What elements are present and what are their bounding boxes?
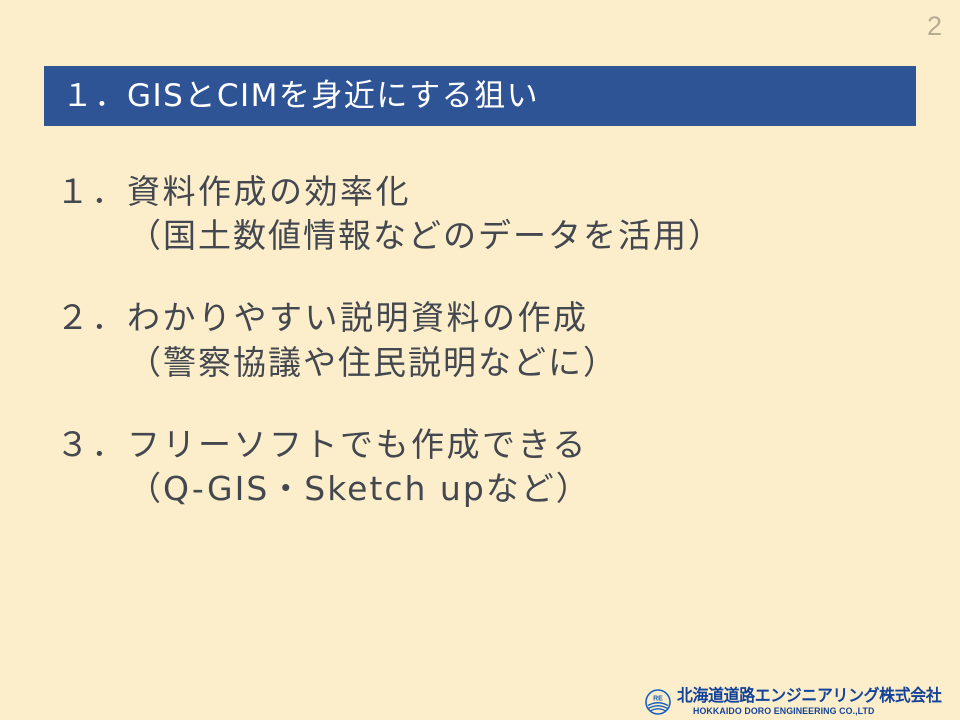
list-item-sub-text: （Q-GIS・Sketch upなど） — [56, 467, 936, 511]
company-name-en: HOKKAIDO DORO ENGINEERING CO.,LTD — [693, 707, 874, 716]
list-item-main-text: ３．フリーソフトでも作成できる — [56, 423, 936, 467]
list-item-sub-text: （警察協議や住民説明などに） — [56, 341, 936, 385]
logo-text-block: 北海道道路エンジニアリング株式会社 HOKKAIDO DORO ENGINEER… — [677, 688, 952, 717]
body-list: １．資料作成の効率化 （国土数値情報などのデータを活用） ２．わかりやすい説明資… — [56, 170, 936, 511]
page-number: 2 — [927, 13, 942, 40]
list-item-main-text: ２．わかりやすい説明資料の作成 — [56, 296, 936, 340]
footer-company-logo: RE 北海道道路エンジニアリング株式会社 HOKKAIDO DORO ENGIN… — [645, 688, 952, 717]
list-item-main-text: １．資料作成の効率化 — [56, 170, 936, 214]
svg-text:RE: RE — [653, 695, 663, 702]
list-item-sub-text: （国土数値情報などのデータを活用） — [56, 214, 936, 258]
slide-title: １．GISとCIMを身近にする狙い — [44, 81, 539, 112]
hde-circle-logo-icon: RE — [645, 689, 671, 715]
list-item: ３．フリーソフトでも作成できる （Q-GIS・Sketch upなど） — [56, 423, 936, 511]
list-item: １．資料作成の効率化 （国土数値情報などのデータを活用） — [56, 170, 936, 258]
title-banner: １．GISとCIMを身近にする狙い — [44, 66, 916, 126]
company-name-ja: 北海道道路エンジニアリング株式会社 — [677, 688, 941, 705]
list-item: ２．わかりやすい説明資料の作成 （警察協議や住民説明などに） — [56, 296, 936, 384]
slide-canvas: 2 １．GISとCIMを身近にする狙い １．資料作成の効率化 （国土数値情報など… — [0, 0, 960, 720]
